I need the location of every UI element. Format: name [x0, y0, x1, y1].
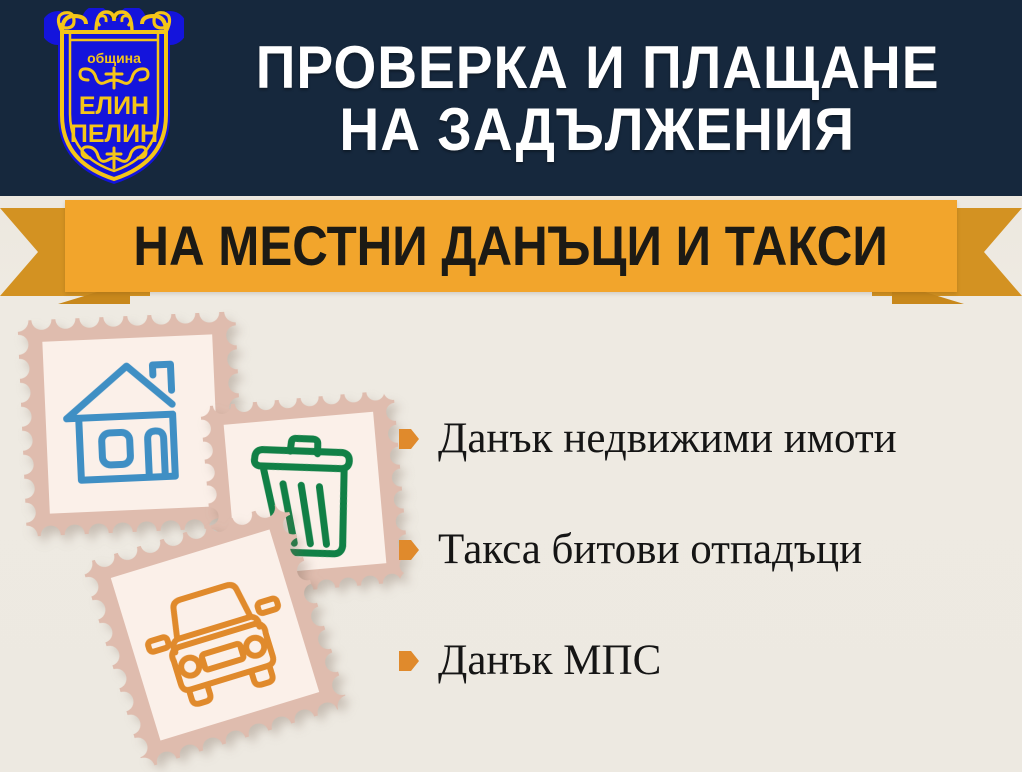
coat-of-arms-graphic: община ЕЛИН ПЕЛИН: [44, 8, 184, 190]
coat-of-arms-label-line-2: ПЕЛИН: [70, 120, 158, 148]
arrow-bullet-icon: [398, 537, 420, 563]
list-item-label: Данък МПС: [438, 638, 661, 684]
page-title-line-1: ПРОВЕРКА И ПЛАЩАНЕ: [256, 37, 940, 99]
coat-of-arms-label-top: община: [87, 50, 141, 66]
arrow-bullet-icon: [398, 648, 420, 674]
tax-type-list: Данък недвижими имоти Такса битови отпад…: [398, 415, 1008, 748]
list-item-vehicle-tax: Данък МПС: [398, 637, 1008, 685]
ribbon-main-panel: НА МЕСТНИ ДАНЪЦИ И ТАКСИ: [65, 200, 957, 292]
list-item-property-tax: Данък недвижими имоти: [398, 415, 1008, 463]
list-item-waste-fee: Такса битови отпадъци: [398, 526, 1008, 574]
poster-canvas: ПРОВЕРКА И ПЛАЩАНЕ НА ЗАДЪЛЖЕНИЯ: [0, 0, 1022, 772]
list-item-label: Данък недвижими имоти: [438, 416, 897, 462]
page-title: ПРОВЕРКА И ПЛАЩАНЕ НА ЗАДЪЛЖЕНИЯ: [185, 16, 1010, 181]
page-title-line-2: НА ЗАДЪЛЖЕНИЯ: [340, 99, 856, 161]
ribbon-label: НА МЕСТНИ ДАНЪЦИ И ТАКСИ: [134, 218, 888, 274]
ribbon-banner: НА МЕСТНИ ДАНЪЦИ И ТАКСИ: [0, 196, 1022, 306]
list-item-label: Такса битови отпадъци: [438, 527, 862, 573]
coat-of-arms: община ЕЛИН ПЕЛИН: [44, 8, 184, 190]
arrow-bullet-icon: [398, 426, 420, 452]
coat-of-arms-label-line-1: ЕЛИН: [79, 92, 149, 120]
